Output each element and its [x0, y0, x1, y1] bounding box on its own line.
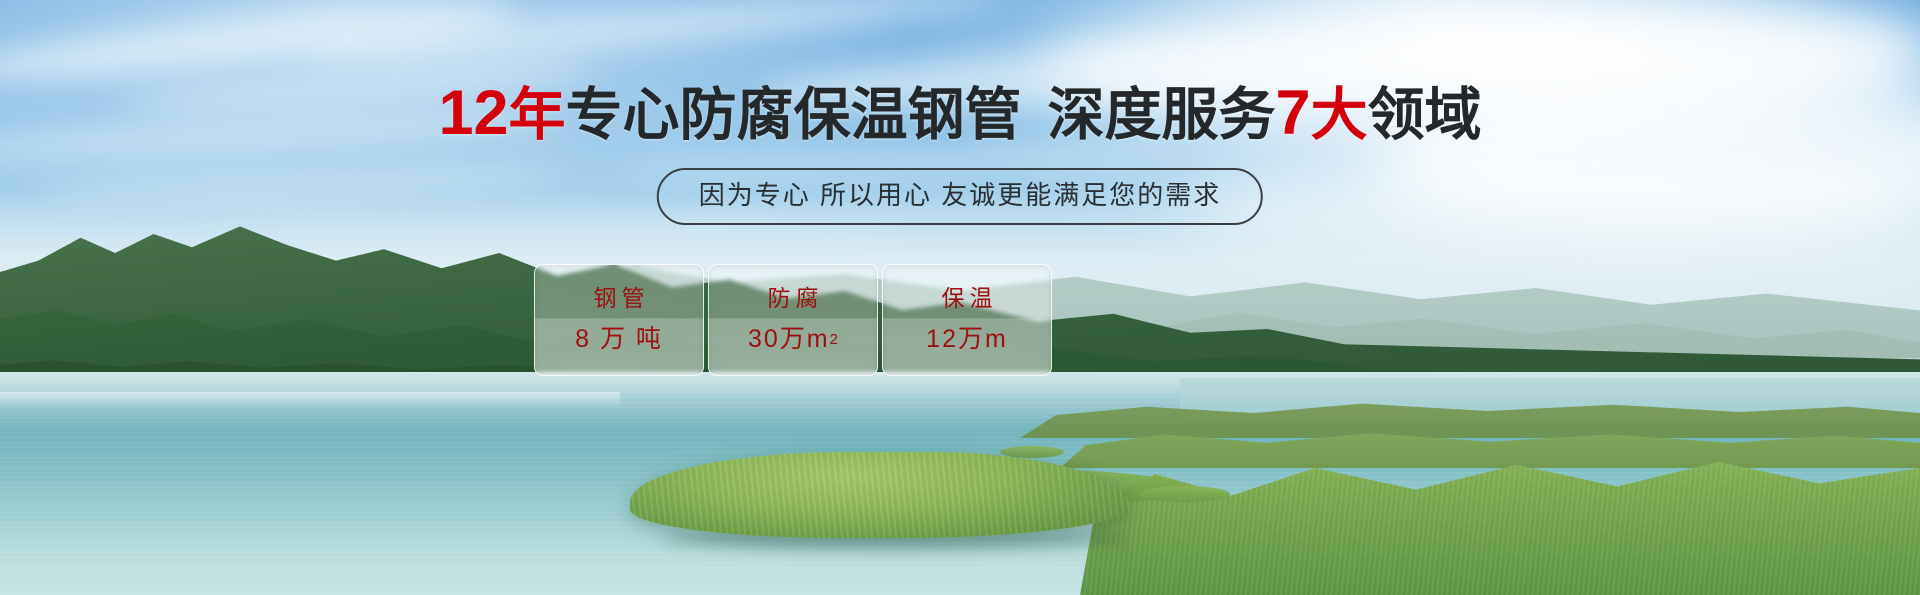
headline-service-phrase: 深度服务	[1048, 83, 1276, 147]
headline-years-unit: 年	[509, 83, 566, 147]
headline-fields-unit: 大	[1311, 83, 1368, 147]
stat-card-steel-pipe[interactable]: 钢管 8 万 吨	[534, 264, 704, 376]
stats-card-group: 钢管 8 万 吨 防腐 30万m2 保温 12万m	[534, 264, 1052, 376]
headline-fields-word: 领域	[1368, 83, 1482, 147]
stat-card-value: 8 万 吨	[575, 319, 663, 359]
stat-card-label: 钢管	[594, 281, 650, 315]
stat-value-superscript: 2	[830, 332, 838, 347]
headline-fields-number: 7	[1276, 78, 1311, 148]
stat-value-text: 30万m	[748, 327, 830, 352]
stat-card-insulation[interactable]: 保温 12万m	[882, 264, 1052, 376]
stat-card-label: 防腐	[768, 281, 824, 315]
banner-content: 12年专心防腐保温钢管深度服务7大领域 因为专心 所以用心 友诚更能满足您的需求…	[0, 0, 1920, 595]
headline: 12年专心防腐保温钢管深度服务7大领域	[0, 82, 1920, 145]
headline-years-number: 12	[438, 78, 508, 148]
stat-card-anticorrosion[interactable]: 防腐 30万m2	[708, 264, 878, 376]
stat-card-value: 30万m2	[748, 319, 838, 359]
headline-main-phrase: 专心防腐保温钢管	[566, 83, 1022, 147]
stat-value-text: 12万m	[926, 327, 1008, 352]
subtitle-pill: 因为专心 所以用心 友诚更能满足您的需求	[657, 168, 1263, 225]
stat-card-value: 12万m	[926, 319, 1008, 359]
stat-card-label: 保温	[942, 281, 998, 315]
promo-banner: 12年专心防腐保温钢管深度服务7大领域 因为专心 所以用心 友诚更能满足您的需求…	[0, 0, 1920, 595]
stat-value-text: 8 万 吨	[575, 327, 663, 352]
